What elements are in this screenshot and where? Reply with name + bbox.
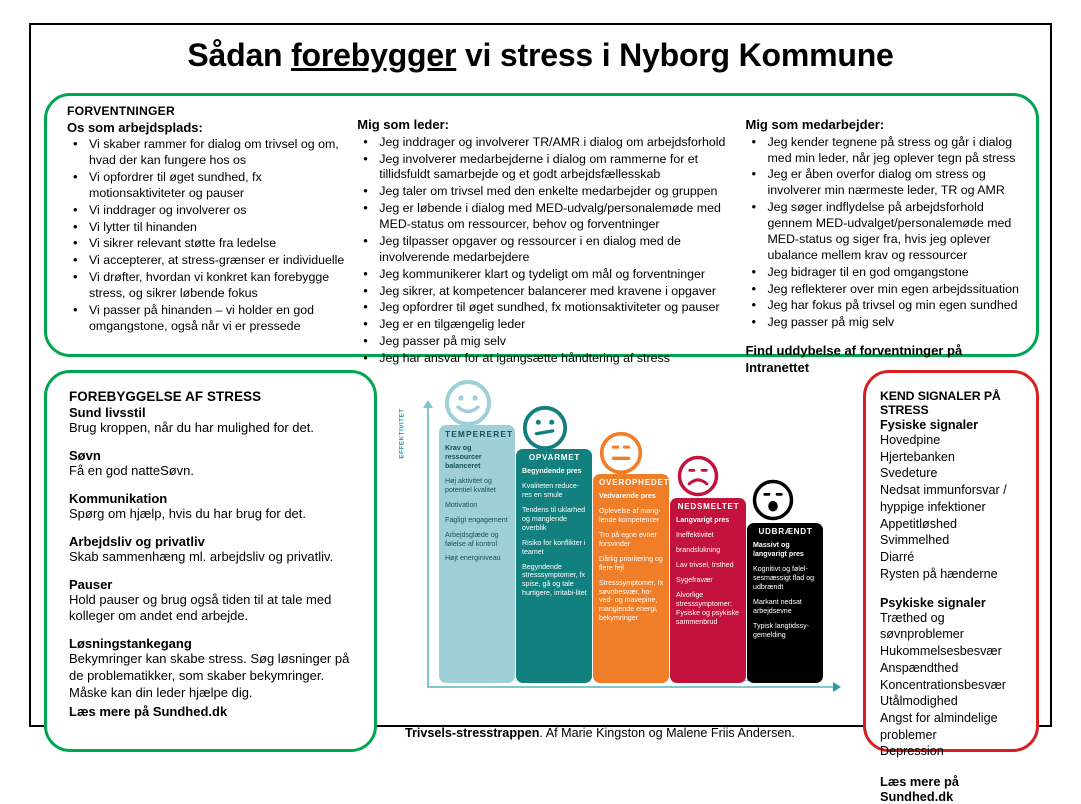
x-axis-arrowhead-icon <box>833 682 841 692</box>
prevention-item-heading: Søvn <box>69 448 356 463</box>
step-item: Alvorlige stresssymptomer: Fysiske og ps… <box>676 591 741 627</box>
signals-title: KEND SIGNALER PÅ STRESS <box>880 389 1026 417</box>
prevention-panel: FOREBYGGELSE AF STRESS Sund livsstil Bru… <box>44 370 377 752</box>
step-item: Motivation <box>445 501 510 510</box>
chart-step-nedsmeltet: NEDSMELTET Langvarigt pres Ineffektivite… <box>670 498 746 683</box>
column-heading: Os som arbejdsplads: <box>67 120 352 137</box>
page-title: Sådan forebygger vi stress i Nyborg Komm… <box>31 37 1050 74</box>
chart-step-opvarmet: OPVARMET Begyndende pres Kvaliteten redu… <box>516 449 592 683</box>
list-item: Jeg er løbende i dialog med MED-udvalg/p… <box>357 201 740 233</box>
step-item: Oplevelse af mang-lende kompetencer <box>599 507 664 525</box>
prevention-item-heading: Arbejdsliv og privatliv <box>69 534 356 549</box>
list-item: Svimmelhed <box>880 532 1026 549</box>
signals-panel: KEND SIGNALER PÅ STRESS Fysiske signaler… <box>863 370 1039 752</box>
list-item: Vi opfordrer til øget sundhed, fx motion… <box>67 170 352 202</box>
list-item: Jeg har fokus på trivsel og min egen sun… <box>745 298 1022 314</box>
step-lead: Krav og ressourcer balanceret <box>445 444 510 471</box>
expectations-column-workplace: FORVENTNINGER Os som arbejdsplads: Vi sk… <box>61 104 352 348</box>
signals-group-heading-psychological: Psykiske signaler <box>880 596 1026 610</box>
step-lead: Massivt og langvarigt pres <box>753 541 818 559</box>
list-item: Vi inddrager og involverer os <box>67 203 352 219</box>
list-item: Jeg passer på mig selv <box>357 334 740 350</box>
list-item: Jeg er åben overfor dialog om stress og … <box>745 167 1022 199</box>
step-label: OPVARMET <box>522 453 587 462</box>
list-item: Jeg reflekterer over min egen arbejdssit… <box>745 282 1022 298</box>
step-item: Ineffektivitet <box>676 531 741 540</box>
prevention-item-heading: Sund livsstil <box>69 405 356 420</box>
list-item: Anspændthed <box>880 660 1026 677</box>
chart-caption-title: Trivsels-stresstrappen <box>405 726 539 740</box>
list-item: Diarré <box>880 549 1026 566</box>
step-item: Risiko for konflikter i teamet <box>522 539 587 557</box>
list-item: Vi lytter til hinanden <box>67 220 352 236</box>
face-shocked-icon <box>751 478 795 522</box>
chart-plot-area: EFFEKTIVITET TRIVSEL ALVORLIG STRESS <box>391 382 847 712</box>
step-label: NEDSMELTET <box>676 502 741 511</box>
step-item: brandslukning <box>676 546 741 555</box>
step-item: Typisk langtidssy-gemelding <box>753 622 818 640</box>
expectations-list-leader: Jeg inddrager og involverer TR/AMR i dia… <box>357 135 740 367</box>
list-item: Koncentrationsbesvær <box>880 677 1026 694</box>
list-item: Jeg kommunikerer klart og tydeligt om må… <box>357 267 740 283</box>
list-item: Angst for almindelige problemer <box>880 710 1026 743</box>
step-label: TEMPERERET <box>445 429 510 439</box>
list-item: Vi accepterer, at stress-grænser er indi… <box>67 253 352 269</box>
step-item: Markant nedsat arbejdsevne <box>753 598 818 616</box>
list-item: Svedeture <box>880 465 1026 482</box>
list-item: Depression <box>880 743 1026 760</box>
step-label: UDBRÆNDT <box>753 527 818 536</box>
step-lead: Begyndende pres <box>522 467 587 476</box>
list-item: Jeg søger indflydelse på arbejdsforhold … <box>745 200 1022 264</box>
prevention-item-body: Få en god natteSøvn. <box>69 463 356 480</box>
prevention-title: FOREBYGGELSE AF STRESS <box>69 389 356 404</box>
signals-list-physical: Hovedpine Hjertebanken Svedeture Nedsat … <box>880 432 1026 583</box>
prevention-item-body: Brug kroppen, når du har mulighed for de… <box>69 420 356 437</box>
list-item: Jeg passer på mig selv <box>745 315 1022 331</box>
chart-step-udbraendt: UDBRÆNDT Massivt og langvarigt pres Kogn… <box>747 523 823 683</box>
list-item: Hovedpine <box>880 432 1026 449</box>
list-item: Appetitløshed <box>880 516 1026 533</box>
expectations-list-employee: Jeg kender tegnene på stress og går i di… <box>745 135 1022 332</box>
expectations-list-workplace: Vi skaber rammer for dialog om trivsel o… <box>67 137 352 335</box>
expectations-column-leader: Mig som leder: Jeg inddrager og involver… <box>352 104 740 348</box>
list-item: Nedsat immunforsvar / hyppige infektione… <box>880 482 1026 515</box>
step-lead: Vedvarende pres <box>599 492 664 501</box>
list-item: Jeg inddrager og involverer TR/AMR i dia… <box>357 135 740 151</box>
step-lead: Langvarigt pres <box>676 516 741 525</box>
stress-staircase-chart: EFFEKTIVITET TRIVSEL ALVORLIG STRESS <box>383 370 855 752</box>
step-item: Begyndende stresssymptomer, fx spise, gå… <box>522 563 587 599</box>
step-item: Høj aktivitet og potentiel kvalitet <box>445 477 510 495</box>
chart-step-overophedet: OVEROPHEDET Vedvarende pres Oplevelse af… <box>593 474 669 683</box>
prevention-item-body: Hold pauser og brug også tiden til at ta… <box>69 592 356 626</box>
signals-group-heading-physical: Fysiske signaler <box>880 418 1026 432</box>
step-item: Dårlig prioritering og flere fejl <box>599 555 664 573</box>
list-item: Jeg opfordrer til øget sundhed, fx motio… <box>357 300 740 316</box>
prevention-readmore-link[interactable]: Læs mere på Sundhed.dk <box>69 704 356 719</box>
step-item: Stresssymptomer, fx søvnbesvær, ho-ved- … <box>599 579 664 624</box>
step-item: Kognitivt og følel-sesmæssigt flad og ud… <box>753 565 818 592</box>
chart-caption: Trivsels-stresstrappen. Af Marie Kingsto… <box>405 726 795 740</box>
list-item: Vi sikrer relevant støtte fra ledelse <box>67 236 352 252</box>
list-item: Vi passer på hinanden – vi holder en god… <box>67 303 352 335</box>
list-item: Rysten på hænderne <box>880 566 1026 583</box>
step-item: Tendens til uklarhed og manglende overbl… <box>522 506 587 533</box>
page-title-after: vi stress i Nyborg Kommune <box>456 37 893 73</box>
step-item: Højt energiniveau <box>445 554 510 563</box>
list-item: Vi drøfter, hvordan vi konkret kan foreb… <box>67 270 352 302</box>
y-axis-arrowhead-icon <box>423 400 433 408</box>
signals-readmore-link[interactable]: Læs mere på Sundhed.dk <box>880 774 1026 804</box>
list-item: Jeg tilpasser opgaver og ressourcer i en… <box>357 234 740 266</box>
x-axis-line <box>427 686 835 688</box>
list-item: Hukommelsesbesvær <box>880 643 1026 660</box>
face-happy-icon <box>443 378 493 428</box>
list-item: Vi skaber rammer for dialog om trivsel o… <box>67 137 352 169</box>
y-axis-line <box>427 406 429 688</box>
page-title-underlined: forebygger <box>291 37 456 73</box>
prevention-item-body: Bekymringer kan skabe stress. Søg løsnin… <box>69 651 356 702</box>
list-item: Jeg har ansvar for at igangsætte håndter… <box>357 351 740 367</box>
list-item: Utålmodighed <box>880 693 1026 710</box>
expectations-panel: FORVENTNINGER Os som arbejdsplads: Vi sk… <box>44 93 1039 357</box>
step-item: Sygefravær <box>676 576 741 585</box>
list-item: Jeg bidrager til en god omgangstone <box>745 265 1022 281</box>
prevention-item-heading: Pauser <box>69 577 356 592</box>
chart-caption-authors: . Af Marie Kingston og Malene Friis Ande… <box>539 726 795 740</box>
column-heading: Mig som leder: <box>357 117 740 134</box>
face-neutral-flat-icon <box>521 404 569 452</box>
prevention-item-heading: Løsningstankegang <box>69 636 356 651</box>
prevention-item-body: Spørg om hjælp, hvis du har brug for det… <box>69 506 356 523</box>
list-item: Hjertebanken <box>880 449 1026 466</box>
expectations-kicker: FORVENTNINGER <box>67 104 352 120</box>
list-item: Træthed og søvnproblemer <box>880 610 1026 643</box>
prevention-item-body: Skab sammenhæng ml. arbejdsliv og privat… <box>69 549 356 566</box>
prevention-item-heading: Kommunikation <box>69 491 356 506</box>
y-axis-label: EFFEKTIVITET <box>399 404 406 464</box>
list-item: Jeg kender tegnene på stress og går i di… <box>745 135 1022 167</box>
face-sad-icon <box>676 454 720 498</box>
signals-list-psychological: Træthed og søvnproblemer Hukommelsesbesv… <box>880 610 1026 761</box>
step-label: OVEROPHEDET <box>599 478 664 487</box>
list-item: Jeg sikrer, at kompetencer balancerer me… <box>357 284 740 300</box>
column-heading: Mig som medarbejder: <box>745 117 1022 134</box>
poster-frame: Sådan forebygger vi stress i Nyborg Komm… <box>29 23 1052 727</box>
step-item: Fagligt engagement <box>445 516 510 525</box>
page-title-before: Sådan <box>187 37 291 73</box>
list-item: Jeg er en tilgængelig leder <box>357 317 740 333</box>
face-neutral-straight-icon <box>598 430 644 476</box>
expectations-column-employee: Mig som medarbejder: Jeg kender tegnene … <box>740 104 1022 348</box>
list-item: Jeg taler om trivsel med den enkelte med… <box>357 184 740 200</box>
step-item: Tro på egne evner forsvinder <box>599 531 664 549</box>
step-item: Arbejdsglæde og følelse af kontrol <box>445 531 510 549</box>
step-item: Kvaliteten reduce-res en smule <box>522 482 587 500</box>
step-item: Lav trivsel, trsthed <box>676 561 741 570</box>
chart-step-tempereret: TEMPERERET Krav og ressourcer balanceret… <box>439 425 515 683</box>
list-item: Jeg involverer medarbejderne i dialog om… <box>357 152 740 184</box>
